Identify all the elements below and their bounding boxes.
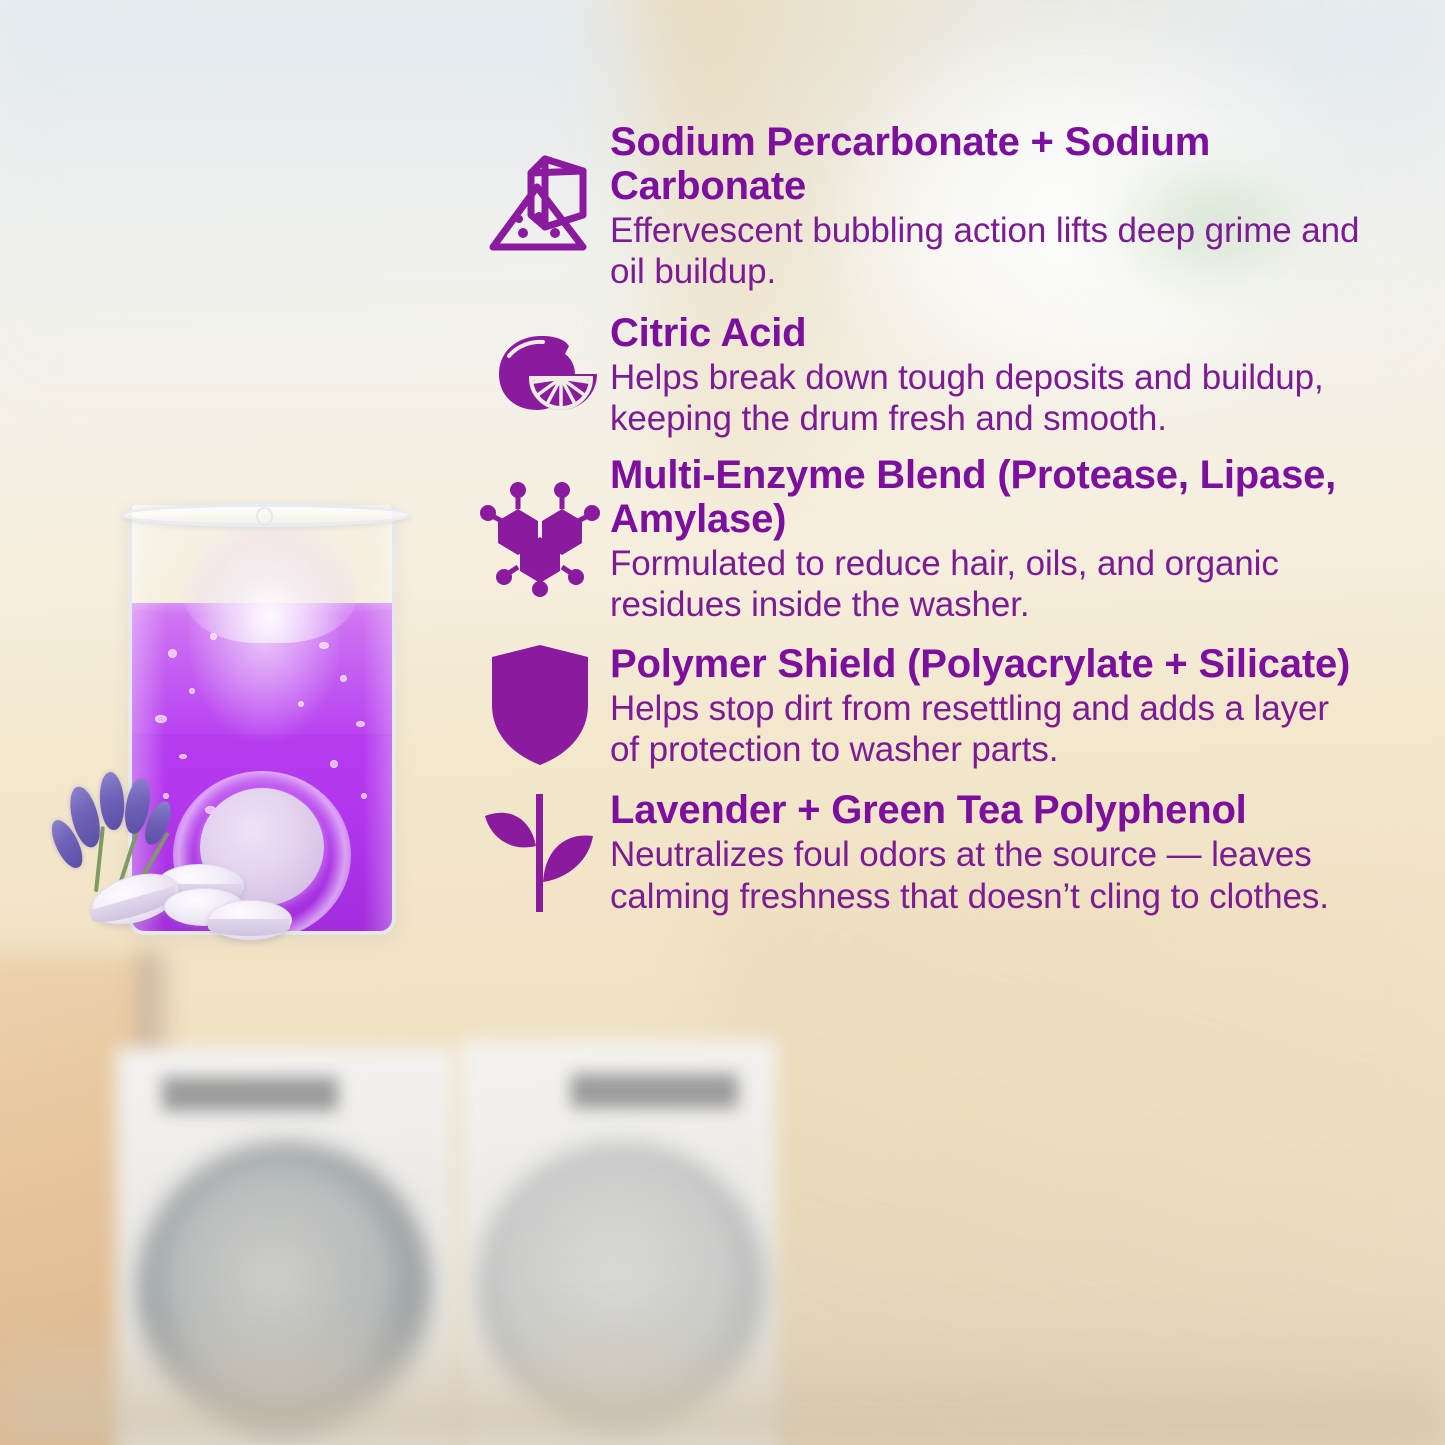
feature-item-lavender-green-tea: Lavender + Green Tea Polyphenol Neutrali…	[470, 786, 1360, 917]
feature-text-block: Sodium Percarbonate + Sodium Carbonate E…	[610, 118, 1360, 293]
background-washer-panel-2	[571, 1074, 739, 1109]
ingredient-feature-list: Sodium Percarbonate + Sodium Carbonate E…	[470, 118, 1360, 917]
loose-tablet-edge	[208, 919, 290, 936]
feature-text-block: Lavender + Green Tea Polyphenol Neutrali…	[610, 786, 1360, 917]
lavender-flower	[98, 771, 126, 831]
feature-text-block: Citric Acid Helps break down tough depos…	[610, 309, 1360, 440]
water-droplet	[256, 507, 273, 526]
bubble	[330, 760, 338, 768]
molecule-icon	[470, 478, 610, 598]
feature-description: Helps stop dirt from resettling and adds…	[610, 688, 1360, 771]
product-image	[60, 470, 450, 1000]
feature-item-citric-acid: Citric Acid Helps break down tough depos…	[470, 309, 1360, 440]
bubble	[356, 721, 365, 727]
infographic-canvas: Sodium Percarbonate + Sodium Carbonate E…	[0, 0, 1445, 1445]
feature-text-block: Polymer Shield (Polyacrylate + Silicate)…	[610, 640, 1360, 771]
bubble	[361, 793, 367, 799]
liquid-right-highlight	[363, 603, 392, 931]
feature-description: Formulated to reduce hair, oils, and org…	[610, 543, 1360, 626]
feature-description: Effervescent bubbling action lifts deep …	[610, 210, 1360, 293]
powder-crystal-icon	[470, 145, 610, 265]
feature-text-block: Multi-Enzyme Blend (Protease, Lipase, Am…	[610, 451, 1360, 626]
shield-icon	[470, 645, 610, 765]
lemon-citrus-icon	[470, 314, 610, 434]
feature-title: Lavender + Green Tea Polyphenol	[610, 788, 1360, 832]
water-splash	[182, 523, 358, 643]
feature-description: Neutralizes foul odors at the source — l…	[610, 834, 1360, 917]
bubble	[179, 754, 187, 759]
feature-item-multi-enzyme: Multi-Enzyme Blend (Protease, Lipase, Am…	[470, 451, 1360, 626]
feature-title: Polymer Shield (Polyacrylate + Silicate)	[610, 642, 1360, 686]
feature-title: Citric Acid	[610, 311, 1360, 355]
feature-title: Sodium Percarbonate + Sodium Carbonate	[610, 120, 1360, 208]
feature-item-polymer-shield: Polymer Shield (Polyacrylate + Silicate)…	[470, 640, 1360, 771]
feature-title: Multi-Enzyme Blend (Protease, Lipase, Am…	[610, 453, 1360, 541]
leaf-sprout-icon	[470, 792, 610, 912]
feature-description: Helps break down tough deposits and buil…	[610, 357, 1360, 440]
bubble	[155, 715, 167, 723]
background-washer-panel-1	[162, 1077, 338, 1112]
background-floor	[0, 1315, 1445, 1445]
feature-item-sodium-percarbonate: Sodium Percarbonate + Sodium Carbonate E…	[470, 118, 1360, 293]
